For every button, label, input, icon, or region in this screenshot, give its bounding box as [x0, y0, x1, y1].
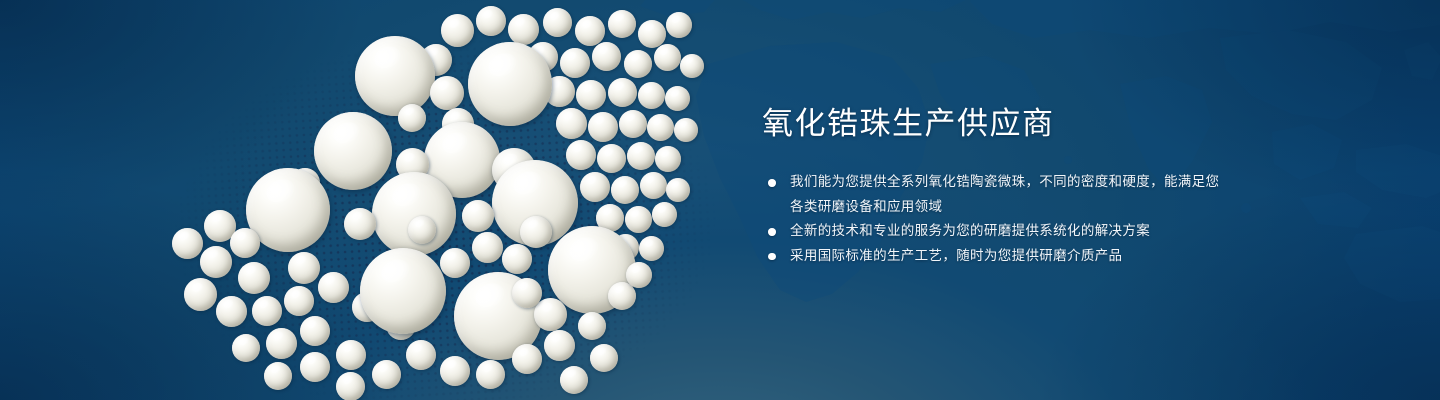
list-item: 采用国际标准的生产工艺，随时为您提供研磨介质产品 — [762, 244, 1232, 269]
zirconia-bead-cluster-image — [0, 0, 760, 400]
list-item-text: 全新的技术和专业的服务为您的研磨提供系统化的解决方案 — [790, 223, 1150, 239]
page-title: 氧化锆珠生产供应商 — [762, 104, 1232, 144]
list-item-text: 采用国际标准的生产工艺，随时为您提供研磨介质产品 — [790, 248, 1122, 264]
bullet-dot-icon — [768, 228, 776, 236]
bullet-dot-icon — [768, 179, 776, 187]
list-item: 我们能为您提供全系列氧化锆陶瓷微珠，不同的密度和硬度，能满足您各类研磨设备和应用… — [762, 170, 1232, 219]
hero-banner: 氧化锆珠生产供应商 我们能为您提供全系列氧化锆陶瓷微珠，不同的密度和硬度，能满足… — [0, 0, 1440, 400]
feature-list: 我们能为您提供全系列氧化锆陶瓷微珠，不同的密度和硬度，能满足您各类研磨设备和应用… — [762, 170, 1232, 268]
bullet-dot-icon — [768, 253, 776, 261]
banner-copy: 氧化锆珠生产供应商 我们能为您提供全系列氧化锆陶瓷微珠，不同的密度和硬度，能满足… — [762, 104, 1232, 268]
list-item: 全新的技术和专业的服务为您的研磨提供系统化的解决方案 — [762, 219, 1232, 244]
list-item-text: 我们能为您提供全系列氧化锆陶瓷微珠，不同的密度和硬度，能满足您各类研磨设备和应用… — [790, 174, 1219, 215]
